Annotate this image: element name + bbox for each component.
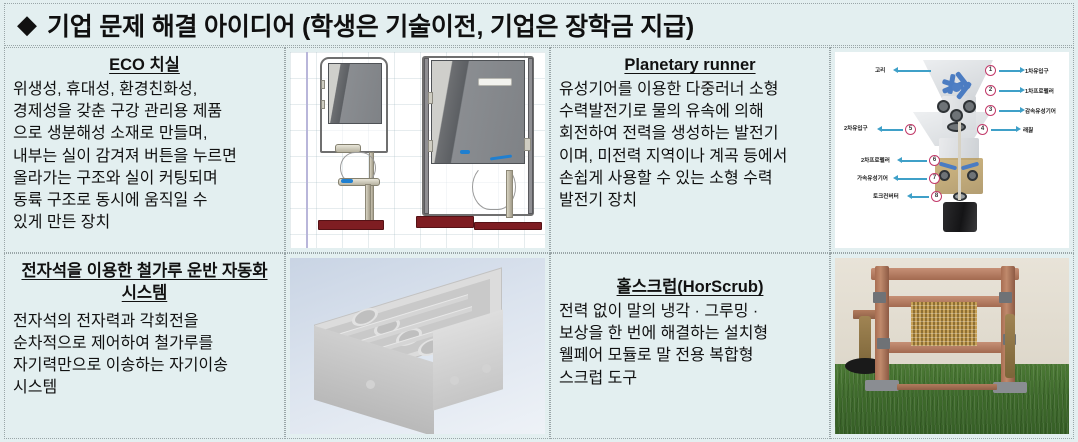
body-line: 위생성, 휴대성, 환경친화성, [13, 79, 276, 101]
pr-reduction-gear [937, 100, 950, 113]
pr-callout-arrow-2 [999, 90, 1021, 92]
cad-left-base [318, 220, 384, 230]
body-line: 웰페어 모듈로 말 전용 복합형 [559, 345, 821, 367]
pr-callout-label-ring: 고리 [875, 66, 885, 74]
pr-ratchet [947, 122, 966, 132]
pr-callout-label-1: 1차유입구 [1025, 67, 1049, 75]
cell-planetary-runner-text: Planetary runner 유성기어를 이용한 다중러너 소형 수력발전기… [550, 47, 830, 253]
pr-accel-gear [967, 170, 978, 181]
cad-right-stem [506, 170, 513, 218]
side-port-b [482, 364, 491, 373]
body-line: 발전기 장치 [559, 190, 821, 212]
pr-propeller-hub [952, 83, 961, 92]
scrub-brush-bristles [911, 302, 977, 346]
pr-callout-arrow-3 [999, 110, 1021, 112]
pr-callout-label-6: 2차프로펠러 [861, 156, 890, 164]
cad-right-base-right [474, 222, 542, 230]
pr-callout-arrow-4 [991, 129, 1017, 131]
cad-right-tab-side [524, 138, 531, 151]
body-line: 회전하여 전력을 생성하는 발전기 [559, 123, 821, 145]
cad-right-highlight-slot [478, 78, 512, 86]
cell-title-line: 전자석을 이용한 철가루 운반 [21, 262, 217, 280]
cell-body-planetary-runner: 유성기어를 이용한 다중러너 소형 수력발전기로 물의 유속에 의해 회전하여 … [559, 79, 821, 211]
left-post [875, 266, 889, 388]
body-line: 전력 없이 말의 냉각 · 그루밍 · [559, 301, 821, 323]
pr-callout-number-2: 2 [985, 85, 996, 96]
pr-callout-number-3: 3 [985, 105, 996, 116]
pr-callout-number-7: 7 [929, 173, 940, 184]
cad-right-tab-lower [428, 140, 433, 152]
pr-generator-motor [943, 202, 977, 232]
top-rail [871, 268, 1019, 280]
pr-callout-number-8: 8 [931, 191, 942, 202]
page-title-bar: ◆ 기업 문제 해결 아이디어 (학생은 기술이전, 기업은 장학금 지급) [4, 3, 1074, 46]
pr-callout-arrow-1 [999, 70, 1021, 72]
cad-right-edge-left [424, 58, 429, 214]
magnet-transport-3d-render [290, 258, 545, 434]
body-line: 내부는 실이 감겨져 버튼을 누르면 [13, 146, 276, 168]
cad-left-panel [328, 63, 382, 124]
cad-right-edge-right [528, 58, 533, 214]
right-clamp-upper [999, 292, 1012, 303]
cad-left-tab-upper [321, 80, 325, 89]
body-line: 수력발전기로 물의 유속에 의해 [559, 101, 821, 123]
cell-title-eco-floss: ECO 치실 [13, 54, 276, 76]
body-line: 시스템 [13, 377, 276, 399]
cad-reference-axis [306, 52, 308, 248]
body-line: 으로 생분해성 소재로 만들며, [13, 123, 276, 145]
pr-callout-label-8: 토크컨버터 [873, 192, 899, 200]
pr-callout-number-5: 5 [905, 124, 916, 135]
body-line: 순차적으로 제어하여 철가루를 [13, 333, 276, 355]
cell-planetary-runner-image: 1 1차유입구 2 1차프로펠러 3 감속유성기어 4 래칧 고리 2차유입구 … [830, 47, 1074, 253]
body-line: 이며, 미전력 지역이나 계곡 등에서 [559, 146, 821, 168]
cell-horscrub-text: 홀스크럽(HorScrub) 전력 없이 말의 냉각 · 그루밍 · 보상을 한… [550, 253, 830, 439]
pr-callout-label-7: 가속유성기어 [857, 174, 888, 182]
body-line: 동륙 구조로 동시에 움직일 수 [13, 190, 276, 212]
cell-horscrub-image [830, 253, 1074, 439]
right-rope [1005, 314, 1015, 378]
cell-eco-floss-image [285, 47, 550, 253]
pr-main-shaft [958, 122, 961, 200]
cell-eco-floss-text: ECO 치실 위생성, 휴대성, 환경친화성, 경제성을 갖춘 구강 관리용 제… [4, 47, 285, 253]
cell-title-planetary-runner: Planetary runner [559, 54, 821, 76]
cad-right-base-left [416, 216, 474, 228]
side-port-a [450, 376, 459, 385]
pr-callout-label-3: 감속유성기어 [1025, 107, 1056, 115]
cell-body-eco-floss: 위생성, 휴대성, 환경친화성, 경제성을 갖춘 구강 관리용 제품 으로 생분… [13, 79, 276, 234]
pr-callout-arrow-8 [911, 196, 929, 198]
front-port [366, 380, 375, 389]
cad-right-panel [431, 60, 525, 164]
body-line: 경제성을 갖춘 구강 관리용 제품 [13, 101, 276, 123]
cell-title-horscrub: 홀스크럽(HorScrub) [559, 276, 821, 298]
body-line: 있게 만든 장치 [13, 212, 276, 234]
idea-grid: ECO 치실 위생성, 휴대성, 환경친화성, 경제성을 갖춘 구강 관리용 제… [4, 47, 1074, 439]
cell-magnet-transport-image [285, 253, 550, 439]
pr-callout-arrow-5 [881, 129, 903, 131]
left-clamp-upper [873, 292, 886, 303]
body-line: 스크럽 도구 [559, 368, 821, 390]
slide-root: ◆ 기업 문제 해결 아이디어 (학생은 기술이전, 기업은 장학금 지급) E… [0, 0, 1078, 442]
pr-callout-arrow-7 [897, 178, 927, 180]
photo-artificial-turf [835, 364, 1069, 434]
ground-cross-bar [897, 384, 997, 390]
left-foot-plate [865, 380, 899, 391]
cad-left-neck [365, 184, 371, 222]
pr-reduction-gear [963, 100, 976, 113]
cad-left-blue-marker [341, 179, 353, 183]
body-line: 전자석의 전자력과 각회전을 [13, 311, 276, 333]
body-line: 자기력만으로 이송하는 자기이송 [13, 355, 276, 377]
cad-right-blue-marker-a [460, 150, 470, 154]
body-line: 손쉽게 사용할 수 있는 소형 수력 [559, 168, 821, 190]
pr-callout-number-1: 1 [985, 65, 996, 76]
pr-callout-label-5: 2차유입구 [844, 124, 868, 132]
pr-reduction-gear [950, 109, 963, 122]
body-line: 유성기어를 이용한 다중러너 소형 [559, 79, 821, 101]
pr-callout-arrow-6 [901, 160, 927, 162]
body-line: 올라가는 구조와 실이 커팅되며 [13, 168, 276, 190]
cell-body-horscrub: 전력 없이 말의 냉각 · 그루밍 · 보상을 한 번에 해결하는 설치형 웰페… [559, 301, 821, 389]
cad-left-tab-lower [321, 100, 325, 109]
pr-callout-label-4: 래칧 [1023, 126, 1033, 134]
horscrub-prototype-photo [835, 258, 1069, 434]
diamond-bullet-icon: ◆ [17, 11, 37, 37]
pr-callout-number-4: 4 [977, 124, 988, 135]
pr-callout-label-2: 1차프로펠러 [1025, 87, 1054, 95]
pr-callout-number-6: 6 [929, 155, 940, 166]
pr-accel-gear [939, 170, 950, 181]
cell-body-magnet-transport: 전자석의 전자력과 각회전을 순차적으로 제어하여 철가루를 자기력만으로 이송… [13, 311, 276, 399]
cell-title-magnet-transport: 전자석을 이용한 철가루 운반 자동화 시스템 [13, 260, 276, 305]
body-line: 보상을 한 번에 해결하는 설치형 [559, 323, 821, 345]
page-title: 기업 문제 해결 아이디어 (학생은 기술이전, 기업은 장학금 지급) [47, 7, 694, 43]
right-foot-plate [993, 382, 1027, 393]
left-clamp-lower [877, 338, 890, 349]
planetary-runner-exploded-diagram: 1 1차유입구 2 1차프로펠러 3 감속유성기어 4 래칧 고리 2차유입구 … [835, 52, 1069, 248]
pr-callout-arrow-ring [897, 70, 931, 72]
cad-right-tab-upper [428, 92, 433, 104]
cell-magnet-transport-text: 전자석을 이용한 철가루 운반 자동화 시스템 전자석의 전자력과 각회전을 순… [4, 253, 285, 439]
eco-floss-cad-drawing [290, 52, 545, 248]
